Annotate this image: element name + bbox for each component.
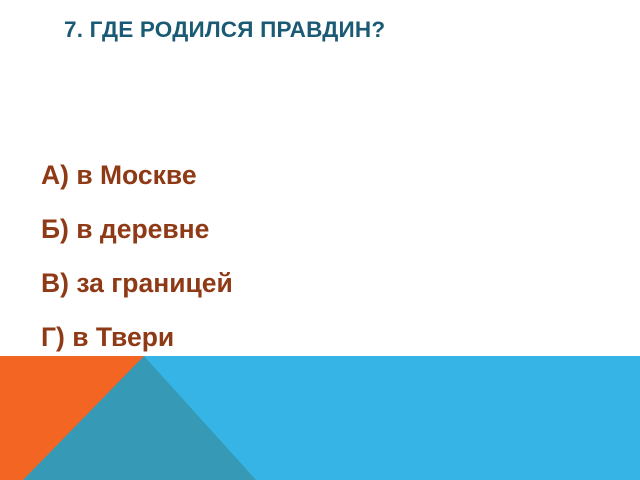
- answer-options-list: А) в Москве Б) в деревне В) за границей …: [41, 148, 561, 364]
- page-title: 7. ГДЕ РОДИЛСЯ ПРАВДИН?: [64, 14, 404, 45]
- slide-canvas: 7. ГДЕ РОДИЛСЯ ПРАВДИН? А) в Москве Б) в…: [0, 0, 640, 480]
- answer-option-a[interactable]: А) в Москве: [41, 148, 561, 202]
- title-block: 7. ГДЕ РОДИЛСЯ ПРАВДИН?: [64, 14, 404, 45]
- answer-option-v[interactable]: В) за границей: [41, 256, 561, 310]
- bottom-decorative-band: [0, 356, 640, 480]
- answer-option-b[interactable]: Б) в деревне: [41, 202, 561, 256]
- decorative-shapes: [0, 356, 640, 480]
